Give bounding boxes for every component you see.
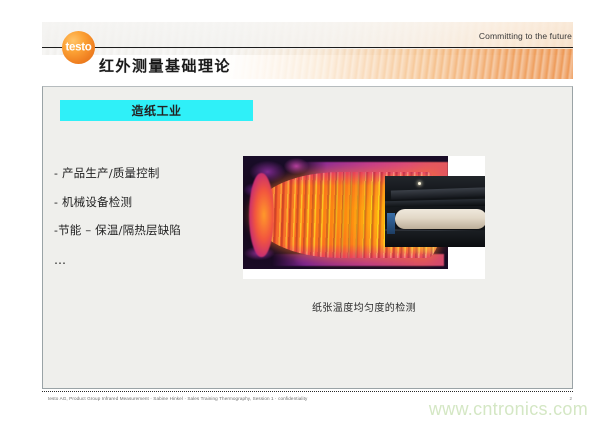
thermal-image-block [243,156,485,279]
paper-roll-endcap [249,173,274,257]
slide-canvas: Committing to the future testo 红外测量基础理论 … [0,0,600,424]
slide-title-area: 红外测量基础理论 [42,49,573,82]
image-caption: 纸张温度均匀度的检测 [243,299,485,314]
brand-tagline: Committing to the future [479,31,572,41]
footer-divider-rule [42,391,573,392]
list-item: - 产品生产/质量控制 [54,168,244,180]
photo-inset-machine [385,176,485,247]
footer-text: testo AG, Product Group Infrared Measure… [48,396,307,401]
list-item: - 机械设备检测 [54,197,244,209]
header-divider-rule [42,47,573,48]
photo-dark-bottom [385,231,485,247]
bullet-list: - 产品生产/质量控制 - 机械设备检测 -节能 – 保温/隔热层缺陷 … [54,168,244,266]
photo-machine-bar-mid [385,199,485,208]
section-subtitle-text: 造纸工业 [131,102,181,119]
section-subtitle-box: 造纸工业 [60,100,253,121]
photo-paper-roller [395,209,485,229]
site-watermark: www.cntronics.com [429,399,588,420]
list-item-ellipsis: … [54,254,244,266]
list-item: -节能 – 保温/隔热层缺陷 [54,225,244,237]
page-title: 红外测量基础理论 [99,55,231,76]
photo-blue-part [387,213,395,234]
